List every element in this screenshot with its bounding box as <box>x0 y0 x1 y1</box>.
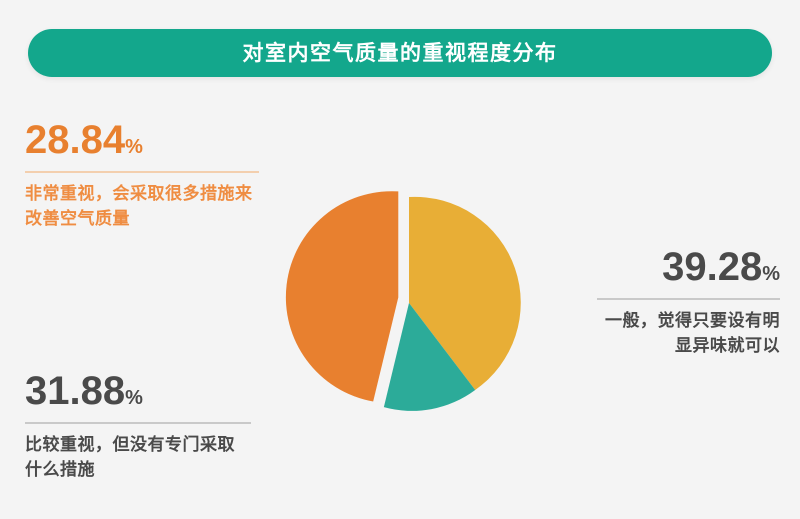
percent-symbol-teal: % <box>125 387 143 409</box>
percent-symbol-orange: % <box>125 136 143 158</box>
callout-number-amber: 39.28 <box>662 245 762 289</box>
callout-description-orange: 非常重视，会采取很多措施来改善空气质量 <box>25 182 259 231</box>
percent-symbol-amber: % <box>762 263 780 285</box>
callout-fairly-important: 31.88% 比较重视，但没有专门采取什么措施 <box>25 371 251 482</box>
callout-average: 39.28% 一般，觉得只要设有明显异味就可以 <box>597 247 780 358</box>
callout-number-teal: 31.88 <box>25 369 125 413</box>
callout-divider-teal <box>25 422 251 424</box>
callout-description-amber: 一般，觉得只要设有明显异味就可以 <box>597 309 780 358</box>
callout-number-orange: 28.84 <box>25 118 125 162</box>
callout-divider-orange <box>25 171 259 173</box>
chart-title-banner: 对室内空气质量的重视程度分布 <box>28 29 772 77</box>
callout-divider-amber <box>597 298 780 300</box>
callout-very-important: 28.84% 非常重视，会采取很多措施来改善空气质量 <box>25 120 259 231</box>
page-title: 对室内空气质量的重视程度分布 <box>243 43 558 64</box>
callout-value-teal: 31.88% <box>25 371 251 411</box>
callout-description-teal: 比较重视，但没有专门采取什么措施 <box>25 433 251 482</box>
pie-slice-orange-group <box>286 191 398 401</box>
pie-chart <box>255 148 575 468</box>
pie-chart-svg <box>255 148 575 468</box>
callout-value-orange: 28.84% <box>25 120 259 160</box>
pie-slice-orange[interactable] <box>286 191 398 401</box>
callout-value-amber: 39.28% <box>597 247 780 287</box>
chart-canvas: 对室内空气质量的重视程度分布 28.84% 非常重视，会采取很多措施来改善空气质… <box>0 0 800 519</box>
